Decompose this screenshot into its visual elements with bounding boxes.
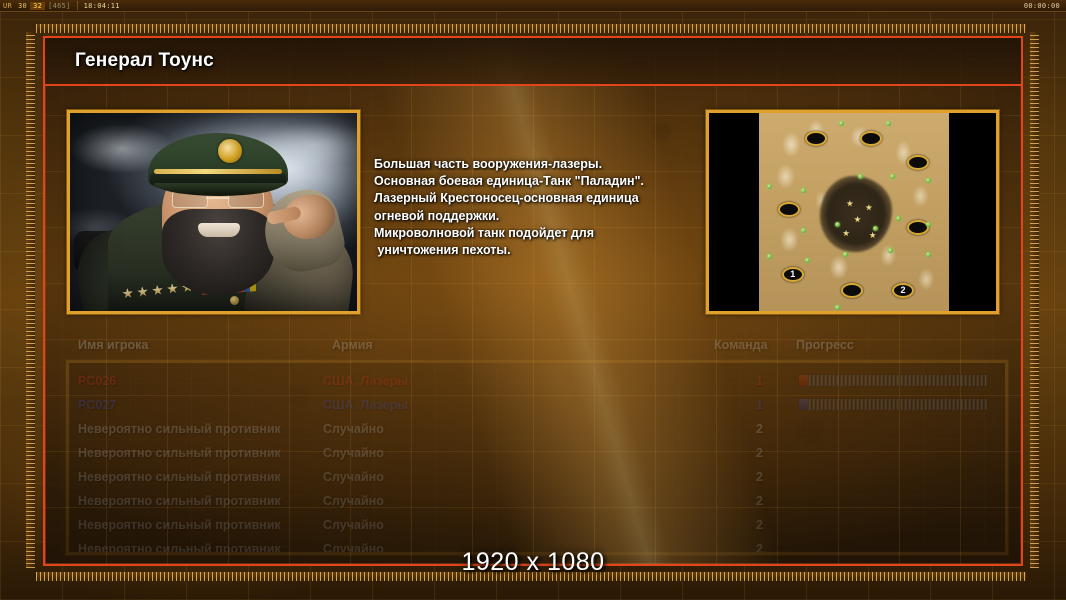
general-description: Большая часть вооружения-лазеры. Основна… xyxy=(360,110,706,320)
system-status-bar: UR 30 32 [465] 18:04:11 00:00:00 xyxy=(0,0,1066,12)
map-supply-dot xyxy=(888,248,893,253)
general-summary-area: Большая часть вооружения-лазеры. Основна… xyxy=(67,110,999,320)
map-supply-dot xyxy=(835,222,840,227)
map-supply-dot xyxy=(767,254,772,259)
map-supply-dot xyxy=(805,258,810,263)
ruler-strip-top xyxy=(36,24,1026,33)
status-value-a: 30 xyxy=(15,2,30,10)
status-value-b: 32 xyxy=(30,2,45,10)
map-canvas: 1 2 xyxy=(709,113,996,311)
map-base-marker xyxy=(907,155,929,170)
map-preview: 1 2 xyxy=(706,110,999,314)
map-supply-dot xyxy=(926,252,931,257)
map-base-marker xyxy=(841,283,863,298)
game-clock: 00:00:00 xyxy=(1024,2,1066,10)
map-supply-dot xyxy=(801,228,806,233)
map-supply-dot xyxy=(767,184,772,189)
status-time: 18:04:11 xyxy=(81,2,123,10)
map-supply-dot xyxy=(873,226,878,231)
map-base-marker xyxy=(778,202,800,217)
general-description-text: Большая часть вооружения-лазеры. Основна… xyxy=(374,156,706,259)
portrait-vignette xyxy=(70,113,357,311)
status-divider xyxy=(77,1,78,10)
page-title: Генерал Тоунс xyxy=(75,50,214,72)
resolution-overlay: 1920 x 1080 xyxy=(0,548,1066,577)
map-terrain: 1 2 xyxy=(759,113,949,311)
map-supply-dot xyxy=(843,252,848,257)
status-value-c: [465] xyxy=(45,2,74,10)
ruler-strip-right xyxy=(1030,32,1039,568)
status-label: UR xyxy=(0,2,15,10)
map-supply-dot xyxy=(839,121,844,126)
map-base-marker xyxy=(805,131,827,146)
general-portrait xyxy=(67,110,360,314)
map-base-marker xyxy=(860,131,882,146)
window-titlebar: Генерал Тоунс xyxy=(45,38,1021,86)
general-info-window: Генерал Тоунс xyxy=(43,36,1023,566)
ruler-strip-left xyxy=(26,32,35,568)
map-supply-dot xyxy=(896,216,901,221)
